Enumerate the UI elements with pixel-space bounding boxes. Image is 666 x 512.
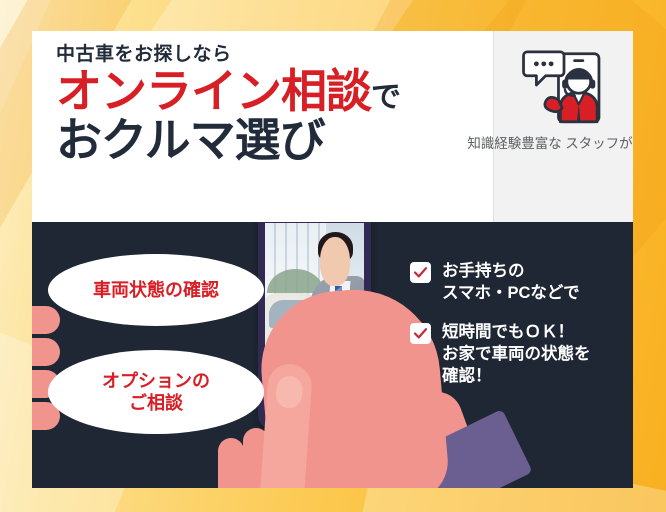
checklist-item-devices: お手持ちの スマホ・PCなどで [410, 260, 591, 305]
finger [218, 438, 244, 488]
staff-caption-line1: 知識経験豊富な [467, 136, 562, 151]
banner-body: 車両状態の確認 オプションの ご相談 お手持ちの スマホ・PCな [32, 222, 633, 488]
finger [32, 338, 60, 366]
checkbox-checked-icon [410, 262, 431, 283]
staff-caption-line2: スタッフが対応 [565, 136, 633, 151]
hand-thumb [259, 363, 313, 488]
benefits-checklist: お手持ちの スマホ・PCなどで 短時間でもＯＫ！ お家で車両の状態を 確認！ [410, 260, 591, 403]
headline-suffix: で [371, 81, 400, 114]
checklist-item-text: お手持ちの スマホ・PCなどで [442, 260, 580, 305]
staff-panel: 知識経験豊富な スタッフが対応 [493, 31, 633, 222]
feature-bubble-option-consultation: オプションの ご相談 [48, 350, 264, 434]
checklist-line: お家で車両の状態を [442, 343, 591, 365]
checklist-line: 確認！ [442, 365, 591, 387]
header-headline-line2: おクルマ選び [56, 117, 493, 164]
header-text-block: 中古車をお探しなら オンライン相談で おクルマ選び [32, 31, 493, 222]
headline-highlight: オンライン相談 [56, 65, 371, 117]
header-kicker: 中古車をお探しなら [56, 45, 493, 66]
check-mark-icon [413, 265, 428, 280]
checklist-line: 短時間でもＯＫ！ [442, 321, 591, 343]
checklist-item-short-time: 短時間でもＯＫ！ お家で車両の状態を 確認！ [410, 321, 591, 388]
checklist-item-text: 短時間でもＯＫ！ お家で車両の状態を 確認！ [442, 321, 591, 388]
feature-bubble-vehicle-condition: 車両状態の確認 [48, 254, 264, 326]
banner-header: 中古車をお探しなら オンライン相談で おクルマ選び [32, 31, 633, 222]
finger [32, 306, 60, 334]
hand-side-fingers [32, 306, 64, 436]
online-consultation-staff-icon [517, 39, 611, 131]
photo-salesman-head [320, 237, 350, 286]
header-headline-line1: オンライン相談で [56, 68, 493, 115]
staff-caption: 知識経験豊富な スタッフが対応 [467, 135, 633, 153]
banner-card: 中古車をお探しなら オンライン相談で おクルマ選び [32, 31, 633, 488]
thumb-nail [275, 375, 303, 409]
check-mark-icon [413, 326, 428, 341]
online-consultation-banner: 中古車をお探しなら オンライン相談で おクルマ選び [0, 0, 666, 512]
checkbox-checked-icon [410, 323, 431, 344]
checklist-line: スマホ・PCなどで [442, 282, 580, 304]
bubble-text: 車両状態の確認 [93, 279, 219, 302]
bubble-text: オプションの [102, 370, 210, 393]
checklist-line: お手持ちの [442, 260, 580, 282]
bubble-text: ご相談 [129, 392, 183, 415]
